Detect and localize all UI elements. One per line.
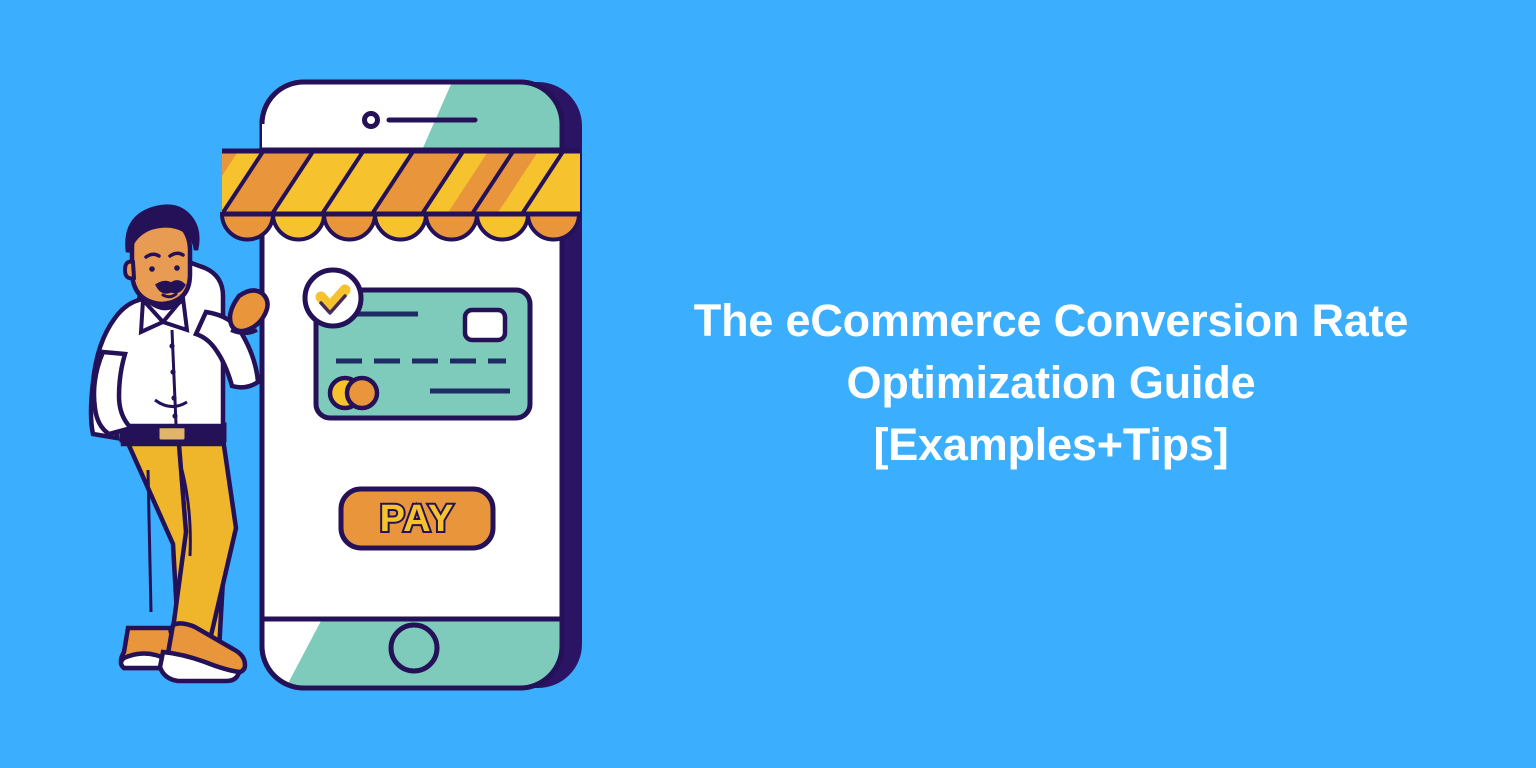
mustache: [157, 282, 184, 292]
eye-right: [174, 265, 180, 271]
pay-button-label: PAY: [380, 498, 455, 540]
eye-left: [149, 266, 155, 272]
shirt-button-1: [169, 343, 174, 348]
phone-bottom-bezel: [262, 619, 562, 689]
card-logo-circle-right-icon: [347, 378, 377, 408]
shoe-right: [160, 623, 245, 681]
shirt-button-2: [170, 369, 175, 374]
phone-top-bezel: [262, 82, 562, 150]
shirt-button-3: [171, 395, 176, 400]
ear: [125, 262, 134, 279]
headline: The eCommerce Conversion Rate Optimizati…: [636, 290, 1466, 476]
shirt-button-4: [172, 413, 177, 418]
card-chip-icon: [465, 310, 505, 340]
man-character: [91, 207, 268, 681]
promo-banner: PAY: [0, 0, 1536, 768]
pay-button[interactable]: PAY: [341, 489, 493, 548]
check-circle-icon: [305, 270, 361, 326]
headline-line-1: The eCommerce Conversion Rate: [636, 290, 1466, 352]
hero-illustration: PAY: [0, 0, 640, 768]
storefront-awning: [147, 150, 614, 240]
illustration-svg: PAY: [0, 0, 640, 768]
headline-line-2: Optimization Guide: [636, 352, 1466, 414]
headline-line-3: [Examples+Tips]: [636, 414, 1466, 476]
